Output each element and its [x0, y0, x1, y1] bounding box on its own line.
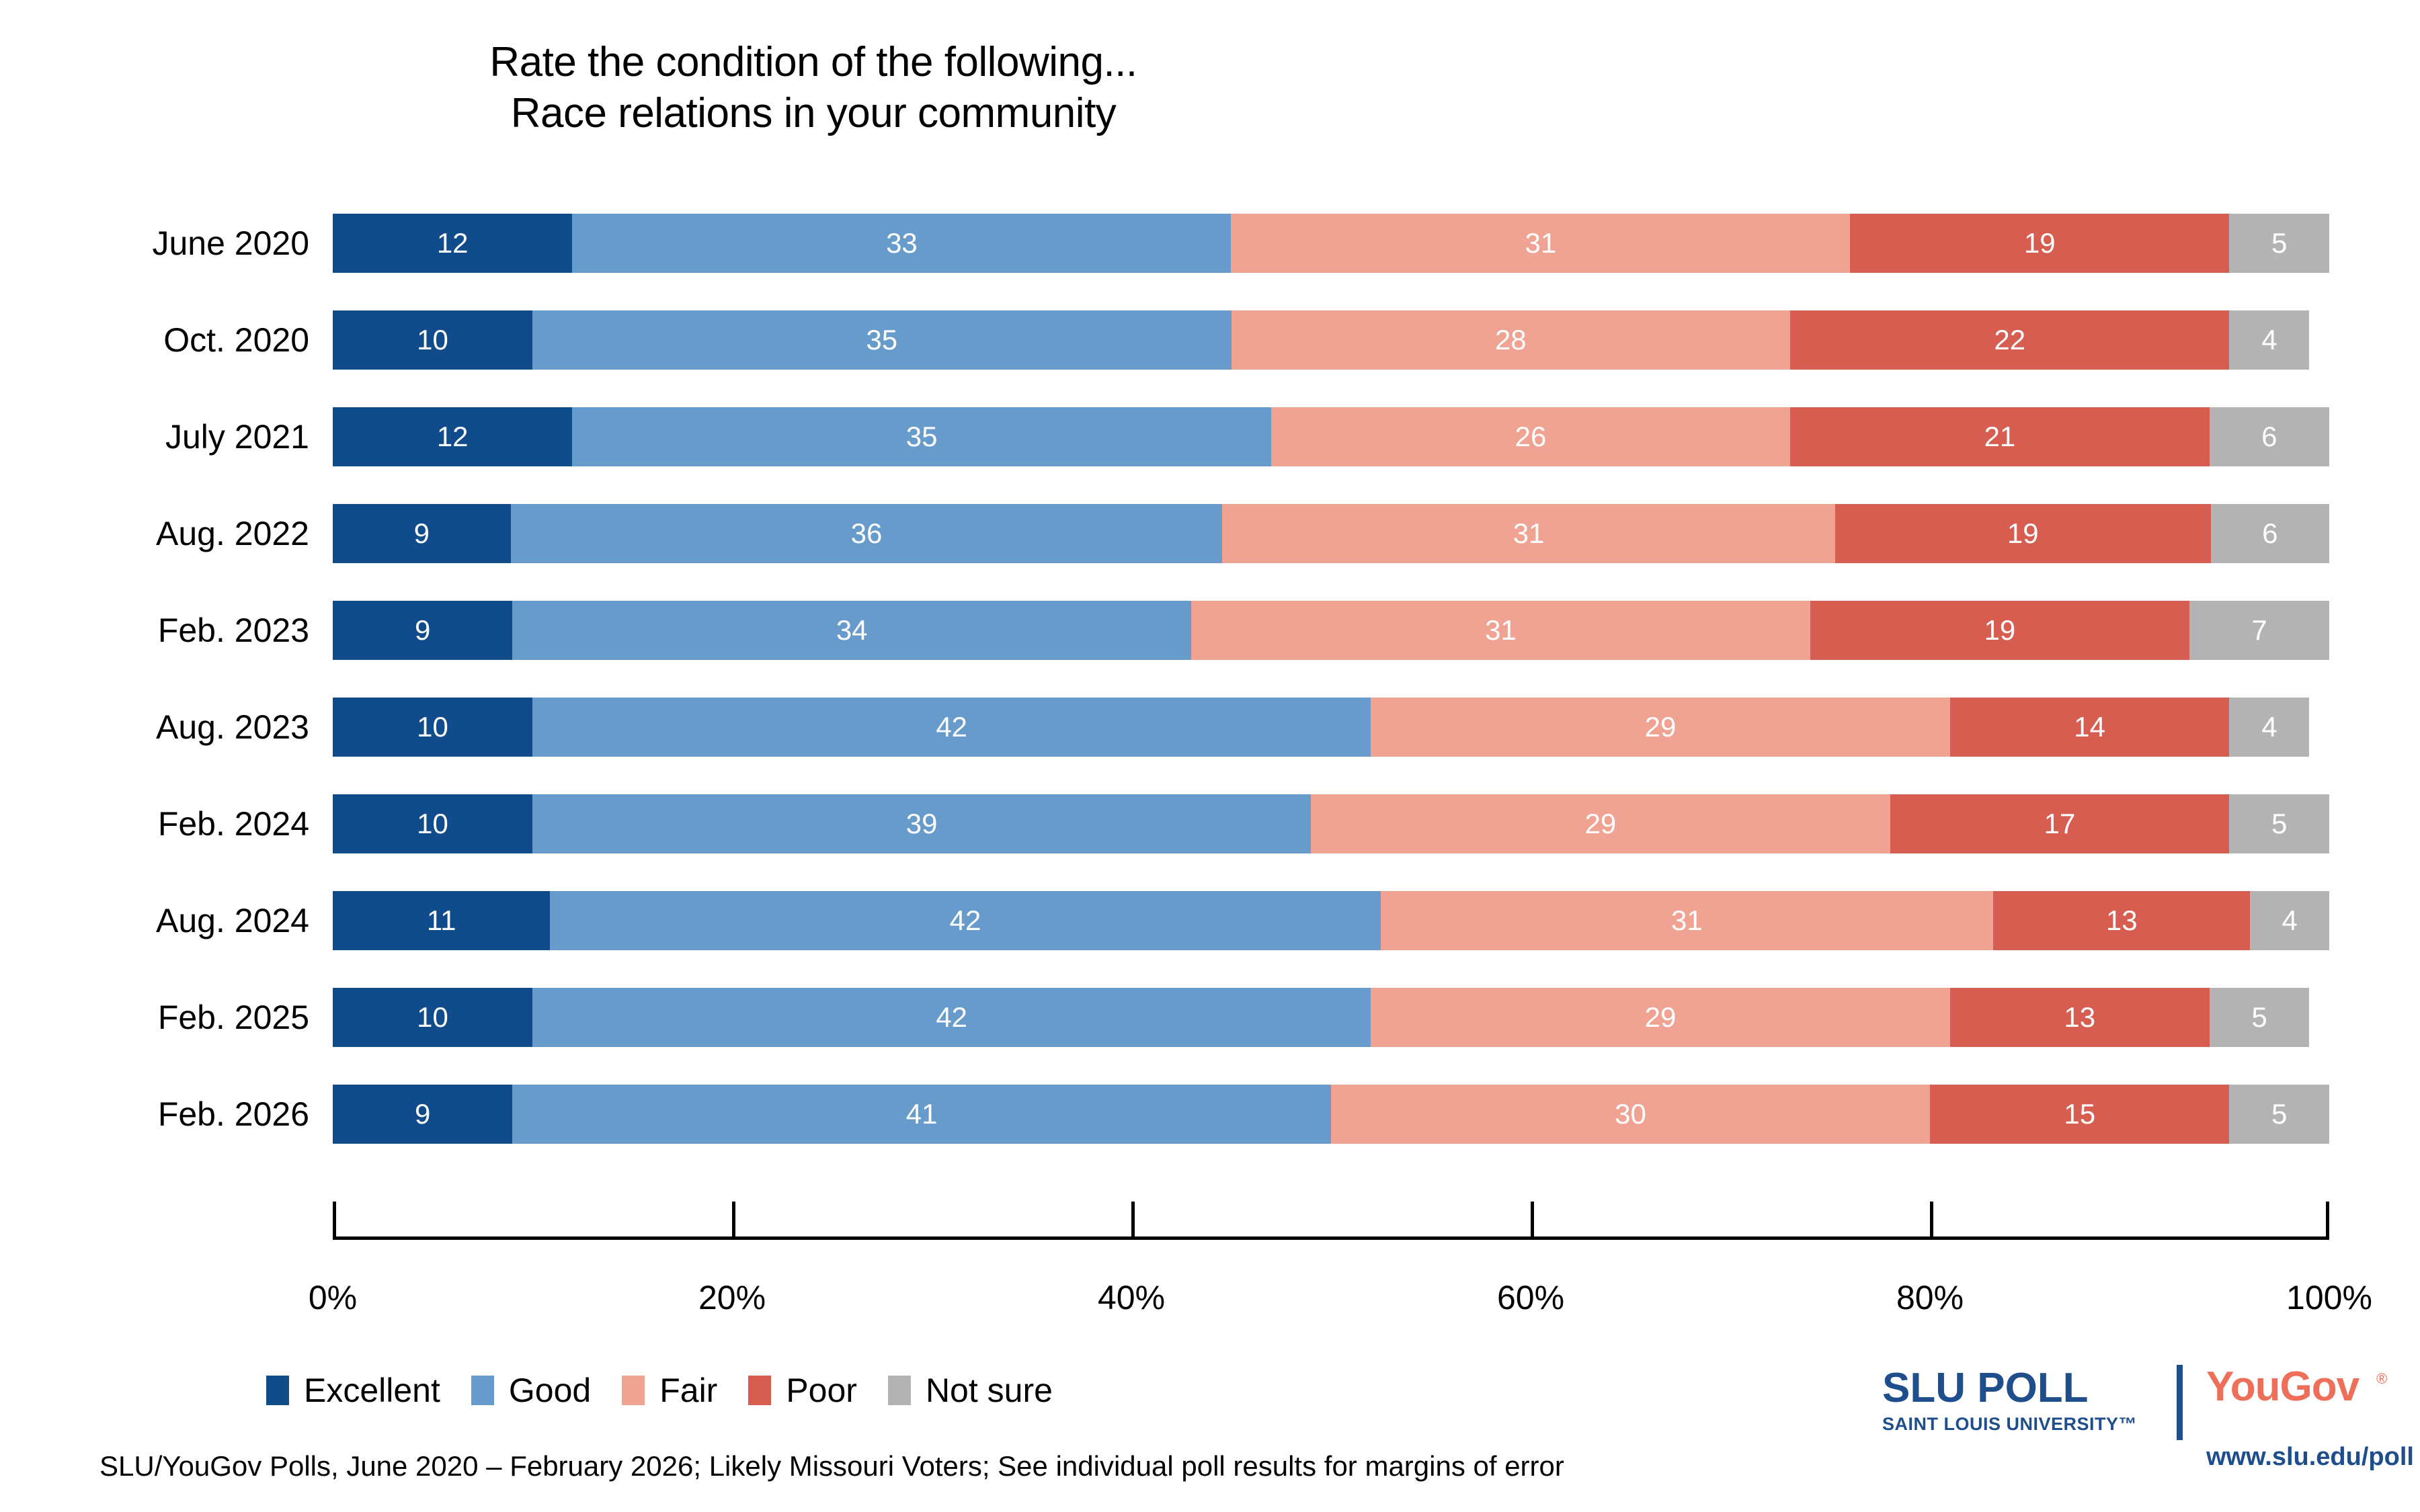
bar-segment-value: 11 — [427, 907, 456, 935]
bar-segment-not-sure: 5 — [2229, 1085, 2329, 1144]
bar-segment-good: 33 — [572, 214, 1231, 273]
bar-segment-value: 10 — [417, 1003, 448, 1032]
bar-segment-good: 42 — [550, 891, 1380, 950]
bar-segment-excellent: 10 — [333, 698, 532, 757]
bar-segment-value: 7 — [2251, 616, 2267, 644]
bar-segment-value: 10 — [417, 810, 448, 838]
x-axis-tick-label: 20% — [698, 1278, 766, 1317]
category-label: Aug. 2024 — [40, 891, 309, 950]
bar-segment-value: 35 — [866, 326, 897, 354]
bar-segment-excellent: 9 — [333, 601, 512, 660]
bar-segment-value: 26 — [1515, 423, 1547, 451]
bar-segment-value: 31 — [1525, 229, 1556, 257]
bar-segment-value: 12 — [437, 229, 469, 257]
bar-segment-value: 10 — [417, 326, 448, 354]
bar-segment-value: 6 — [2261, 423, 2277, 451]
bar-segment-value: 13 — [2064, 1003, 2095, 1032]
bar-segment-good: 35 — [572, 407, 1271, 466]
bar-row: 93431197 — [333, 601, 2329, 660]
bar-row: 93631196 — [333, 504, 2329, 563]
category-label: July 2021 — [40, 407, 309, 466]
legend-swatch-icon — [471, 1376, 494, 1405]
bar-segment-poor: 22 — [1790, 310, 2229, 370]
chart-title-line-1: Rate the condition of the following... — [0, 37, 1627, 88]
bar-segment-value: 19 — [1984, 616, 2016, 644]
bar-segment-value: 42 — [936, 1003, 967, 1032]
bar-segment-not-sure: 4 — [2229, 698, 2309, 757]
category-label: Aug. 2023 — [40, 698, 309, 757]
bar-segment-excellent: 12 — [333, 407, 572, 466]
bar-segment-not-sure: 4 — [2229, 310, 2309, 370]
x-axis-line — [333, 1236, 2329, 1240]
category-label: Feb. 2026 — [40, 1085, 309, 1144]
x-axis-tick — [333, 1202, 336, 1236]
bar-segment-excellent: 10 — [333, 794, 532, 853]
legend-swatch-icon — [748, 1376, 771, 1405]
bar-segment-good: 35 — [532, 310, 1232, 370]
bar-segment-poor: 13 — [1950, 988, 2210, 1047]
bar-segment-value: 9 — [415, 1100, 430, 1128]
bar-segment-value: 12 — [437, 423, 469, 451]
x-axis-tick-label: 100% — [2286, 1278, 2372, 1317]
bar-segment-poor: 13 — [1993, 891, 2250, 950]
bar-segment-not-sure: 6 — [2211, 504, 2329, 563]
bar-segment-good: 42 — [532, 988, 1371, 1047]
x-axis-tick-label: 0% — [309, 1278, 357, 1317]
bar-segment-value: 5 — [2251, 1003, 2267, 1032]
bar-segment-not-sure: 5 — [2210, 988, 2310, 1047]
bar-segment-value: 29 — [1645, 713, 1677, 741]
bar-segment-excellent: 10 — [333, 988, 532, 1047]
bar-segment-fair: 31 — [1222, 504, 1835, 563]
bar-segment-value: 28 — [1495, 326, 1527, 354]
legend-item-fair[interactable]: Fair — [622, 1371, 717, 1410]
bar-segment-value: 31 — [1671, 907, 1703, 935]
bar-row: 104229144 — [333, 698, 2329, 757]
bar-segment-value: 10 — [417, 713, 448, 741]
bar-row: 114231134 — [333, 891, 2329, 950]
yougov-wordmark: YouGov — [2206, 1366, 2359, 1408]
bar-segment-fair: 31 — [1191, 601, 1810, 660]
bar-segment-value: 30 — [1615, 1100, 1646, 1128]
bar-segment-fair: 31 — [1231, 214, 1850, 273]
slu-poll-url[interactable]: www.slu.edu/poll — [2206, 1443, 2414, 1472]
bar-segment-value: 19 — [2024, 229, 2056, 257]
bar-segment-value: 41 — [906, 1100, 938, 1128]
bar-segment-value: 35 — [906, 423, 938, 451]
x-axis-tick — [1531, 1202, 1534, 1236]
bar-segment-value: 9 — [414, 519, 430, 548]
legend-label: Not sure — [926, 1371, 1053, 1410]
legend-item-poor[interactable]: Poor — [748, 1371, 857, 1410]
bar-segment-value: 34 — [836, 616, 868, 644]
bar-segment-not-sure: 5 — [2229, 214, 2329, 273]
legend-item-not-sure[interactable]: Not sure — [888, 1371, 1053, 1410]
bar-segment-good: 42 — [532, 698, 1371, 757]
legend-swatch-icon — [266, 1376, 289, 1405]
bar-segment-value: 4 — [2261, 326, 2277, 354]
bar-segment-value: 19 — [2007, 519, 2039, 548]
bar-segment-poor: 17 — [1890, 794, 2230, 853]
bar-segment-value: 13 — [2106, 907, 2138, 935]
category-label: Aug. 2022 — [40, 504, 309, 563]
bar-segment-not-sure: 6 — [2210, 407, 2329, 466]
bar-segment-poor: 19 — [1835, 504, 2211, 563]
bar-row: 104229135 — [333, 988, 2329, 1047]
logo-block: SLU POLL SAINT LOUIS UNIVERSITY™ YouGov … — [1882, 1368, 2393, 1488]
bar-segment-value: 29 — [1645, 1003, 1677, 1032]
bar-segment-value: 42 — [950, 907, 981, 935]
bar-segment-value: 31 — [1485, 616, 1517, 644]
bar-segment-fair: 29 — [1311, 794, 1890, 853]
category-label: Oct. 2020 — [40, 310, 309, 370]
bar-segment-good: 36 — [511, 504, 1223, 563]
slu-poll-wordmark: SLU POLL — [1882, 1368, 2137, 1409]
bar-segment-excellent: 9 — [333, 504, 511, 563]
bar-segment-value: 36 — [851, 519, 883, 548]
registered-trademark-icon: ® — [2376, 1370, 2387, 1388]
bar-row: 123526216 — [333, 407, 2329, 466]
category-label: June 2020 — [40, 214, 309, 273]
bar-segment-value: 17 — [2044, 810, 2076, 838]
saint-louis-university-wordmark: SAINT LOUIS UNIVERSITY™ — [1882, 1415, 2137, 1433]
legend-label: Excellent — [304, 1371, 440, 1410]
category-label: Feb. 2023 — [40, 601, 309, 660]
x-axis-tick-label: 60% — [1497, 1278, 1564, 1317]
bar-segment-value: 5 — [2271, 1100, 2287, 1128]
x-axis-tick-label: 40% — [1098, 1278, 1165, 1317]
bar-segment-excellent: 9 — [333, 1085, 512, 1144]
bar-segment-value: 42 — [936, 713, 967, 741]
bar-segment-poor: 15 — [1930, 1085, 2230, 1144]
bar-segment-excellent: 12 — [333, 214, 572, 273]
bar-segment-value: 9 — [415, 616, 430, 644]
bar-segment-not-sure: 5 — [2229, 794, 2329, 853]
x-axis: 0%20%40%60%80%100% — [333, 1236, 2329, 1237]
bar-segment-value: 21 — [1984, 423, 2016, 451]
bar-segment-value: 15 — [2064, 1100, 2095, 1128]
bar-segment-fair: 26 — [1271, 407, 1790, 466]
bar-segment-poor: 21 — [1790, 407, 2210, 466]
bar-segment-good: 34 — [512, 601, 1191, 660]
category-axis: June 2020Oct. 2020July 2021Aug. 2022Feb.… — [40, 214, 309, 1222]
legend-label: Poor — [786, 1371, 857, 1410]
bar-segment-value: 6 — [2262, 519, 2277, 548]
bar-segment-poor: 19 — [1850, 214, 2229, 273]
legend-swatch-icon — [622, 1376, 645, 1405]
x-axis-tick — [1131, 1202, 1135, 1236]
legend-label: Good — [509, 1371, 591, 1410]
bar-segment-fair: 30 — [1331, 1085, 1930, 1144]
bar-segment-fair: 29 — [1371, 698, 1949, 757]
logo-divider — [2177, 1365, 2183, 1440]
legend-swatch-icon — [888, 1376, 911, 1405]
slu-poll-logo: SLU POLL SAINT LOUIS UNIVERSITY™ — [1882, 1368, 2137, 1433]
bar-row: 103528224 — [333, 310, 2329, 370]
bar-segment-good: 39 — [532, 794, 1311, 853]
x-axis-tick — [732, 1202, 735, 1236]
bar-segment-value: 5 — [2271, 810, 2287, 838]
legend-label: Fair — [659, 1371, 717, 1410]
legend-item-good[interactable]: Good — [471, 1371, 591, 1410]
bar-segment-value: 4 — [2261, 713, 2277, 741]
source-footnote: SLU/YouGov Polls, June 2020 – February 2… — [99, 1450, 1564, 1482]
bar-segment-excellent: 11 — [333, 891, 550, 950]
chart-title-line-2: Race relations in your community — [0, 88, 1627, 139]
bar-segment-value: 14 — [2074, 713, 2105, 741]
bar-segment-good: 41 — [512, 1085, 1331, 1144]
bar-segment-not-sure: 4 — [2250, 891, 2329, 950]
bar-segment-value: 5 — [2271, 229, 2287, 257]
bar-segment-value: 31 — [1513, 519, 1545, 548]
chart-title: Rate the condition of the following... R… — [0, 37, 1627, 138]
bar-segment-value: 39 — [906, 810, 938, 838]
x-axis-tick — [2326, 1202, 2329, 1236]
bar-segment-value: 33 — [886, 229, 918, 257]
bar-segment-not-sure: 7 — [2189, 601, 2329, 660]
category-label: Feb. 2025 — [40, 988, 309, 1047]
bar-row: 94130155 — [333, 1085, 2329, 1144]
bar-segment-excellent: 10 — [333, 310, 532, 370]
bar-segment-poor: 14 — [1950, 698, 2230, 757]
bar-segment-value: 29 — [1585, 810, 1617, 838]
legend-item-excellent[interactable]: Excellent — [266, 1371, 440, 1410]
chart-legend: ExcellentGoodFairPoorNot sure — [266, 1371, 1084, 1410]
bar-row: 123331195 — [333, 214, 2329, 273]
bar-segment-fair: 28 — [1232, 310, 1791, 370]
bar-segment-value: 4 — [2282, 907, 2298, 935]
bar-row: 103929175 — [333, 794, 2329, 853]
chart-plot-area: 1233311951035282241235262169363119693431… — [333, 214, 2329, 1222]
x-axis-tick — [1930, 1202, 1933, 1236]
x-axis-tick-label: 80% — [1896, 1278, 1964, 1317]
bar-segment-poor: 19 — [1810, 601, 2189, 660]
category-label: Feb. 2024 — [40, 794, 309, 853]
bar-segment-fair: 29 — [1371, 988, 1949, 1047]
bar-segment-fair: 31 — [1381, 891, 1994, 950]
bar-segment-value: 22 — [1994, 326, 2025, 354]
